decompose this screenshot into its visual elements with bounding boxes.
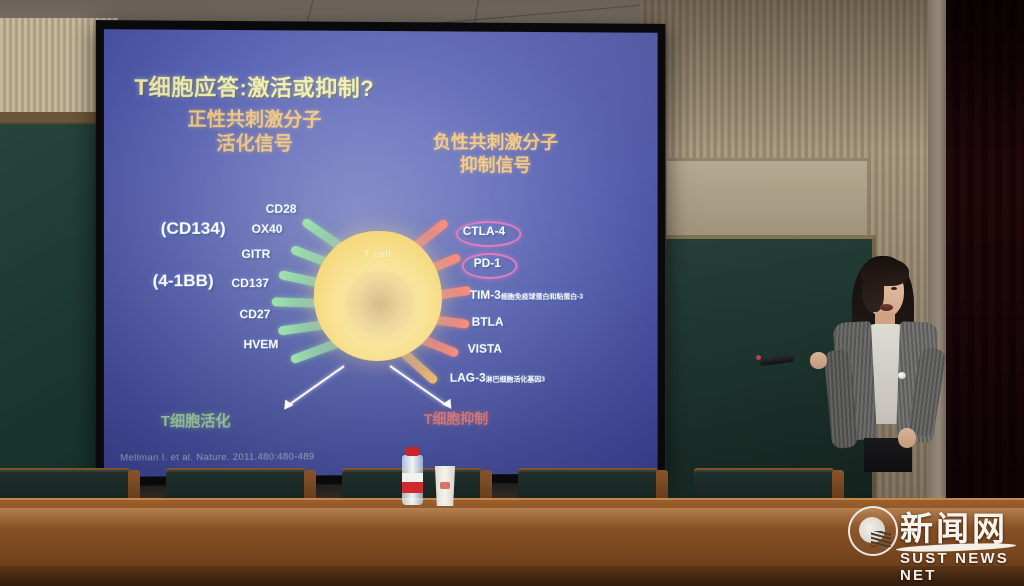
mouth (880, 304, 893, 311)
label-cd27: CD27 (239, 307, 270, 321)
slide-citation: Mellman I. et al. Nature. 2011.480:480-4… (120, 451, 314, 463)
t-cell: T cell (314, 231, 442, 361)
subtitle-left-line-1: 正性共刺激分子 (138, 108, 370, 133)
label-tim3-note: 细胞免疫球蛋白和粘蛋白-3 (501, 294, 583, 301)
label-vista: VISTA (468, 342, 502, 356)
presenter (822, 252, 952, 500)
label-cd134-alias: (CD134) (161, 219, 226, 239)
water-bottle[interactable] (401, 447, 424, 505)
t-cell-nucleus (346, 271, 414, 335)
watermark-english: SUST NEWS NET (900, 550, 1018, 584)
outcome-activation: T细胞活化 (161, 410, 231, 431)
bottle-label (402, 473, 423, 493)
hand-right (898, 428, 916, 448)
slide-title: T细胞应答:激活或抑制? (134, 70, 374, 103)
projection-screen: T细胞应答:激活或抑制? 正性共刺激分子 活化信号 负性共刺激分子 抑制信号 (96, 20, 666, 486)
label-cd28: CD28 (266, 202, 297, 216)
label-ox40: OX40 (252, 222, 283, 236)
label-lag3-note: 淋巴细胞活化基因3 (486, 376, 545, 383)
slide-subtitle-right: 负性共刺激分子 抑制信号 (386, 131, 604, 178)
label-lag3: LAG-3淋巴细胞活化基因3 (450, 370, 545, 384)
label-btla: BTLA (472, 315, 504, 329)
label-tim3-name: TIM-3 (470, 288, 501, 302)
lecture-photo: T细胞应答:激活或抑制? 正性共刺激分子 活化信号 负性共刺激分子 抑制信号 (0, 0, 1024, 586)
label-ctla4: CTLA-4 (463, 224, 505, 238)
bottle-cap (406, 447, 419, 456)
presentation-slide: T细胞应答:激活或抑制? 正性共刺激分子 活化信号 负性共刺激分子 抑制信号 (104, 29, 658, 477)
paper-cup-logo-icon (440, 482, 450, 489)
label-pd1: PD-1 (474, 256, 501, 270)
subtitle-right-line-2: 抑制信号 (386, 154, 604, 178)
label-lag3-name: LAG-3 (450, 371, 486, 385)
hand-left (810, 352, 827, 369)
eye-right (891, 287, 897, 290)
eye-left (874, 288, 880, 291)
label-gitr: GITR (242, 247, 271, 261)
label-4-1bb-alias: (4-1BB) (153, 271, 214, 291)
curtain-shading (946, 0, 1024, 500)
university-seal-icon (848, 506, 898, 556)
subtitle-right-line-1: 负性共刺激分子 (386, 131, 604, 155)
slide-subtitle-left: 正性共刺激分子 活化信号 (138, 108, 370, 158)
label-hvem: HVEM (244, 337, 279, 351)
clicker-led-icon (756, 355, 761, 360)
lapel-pin (898, 372, 906, 379)
t-cell-label: T cell (314, 249, 442, 259)
outcome-inhibition: T细胞抑制 (424, 409, 488, 429)
subtitle-left-line-2: 活化信号 (138, 132, 370, 157)
seal-inner (859, 517, 885, 543)
label-tim3: TIM-3细胞免疫球蛋白和粘蛋白-3 (470, 288, 584, 302)
seal-bars-icon (871, 531, 891, 547)
watermark: 新闻网 SUST NEWS NET (846, 500, 1018, 572)
label-cd137: CD137 (231, 276, 269, 290)
